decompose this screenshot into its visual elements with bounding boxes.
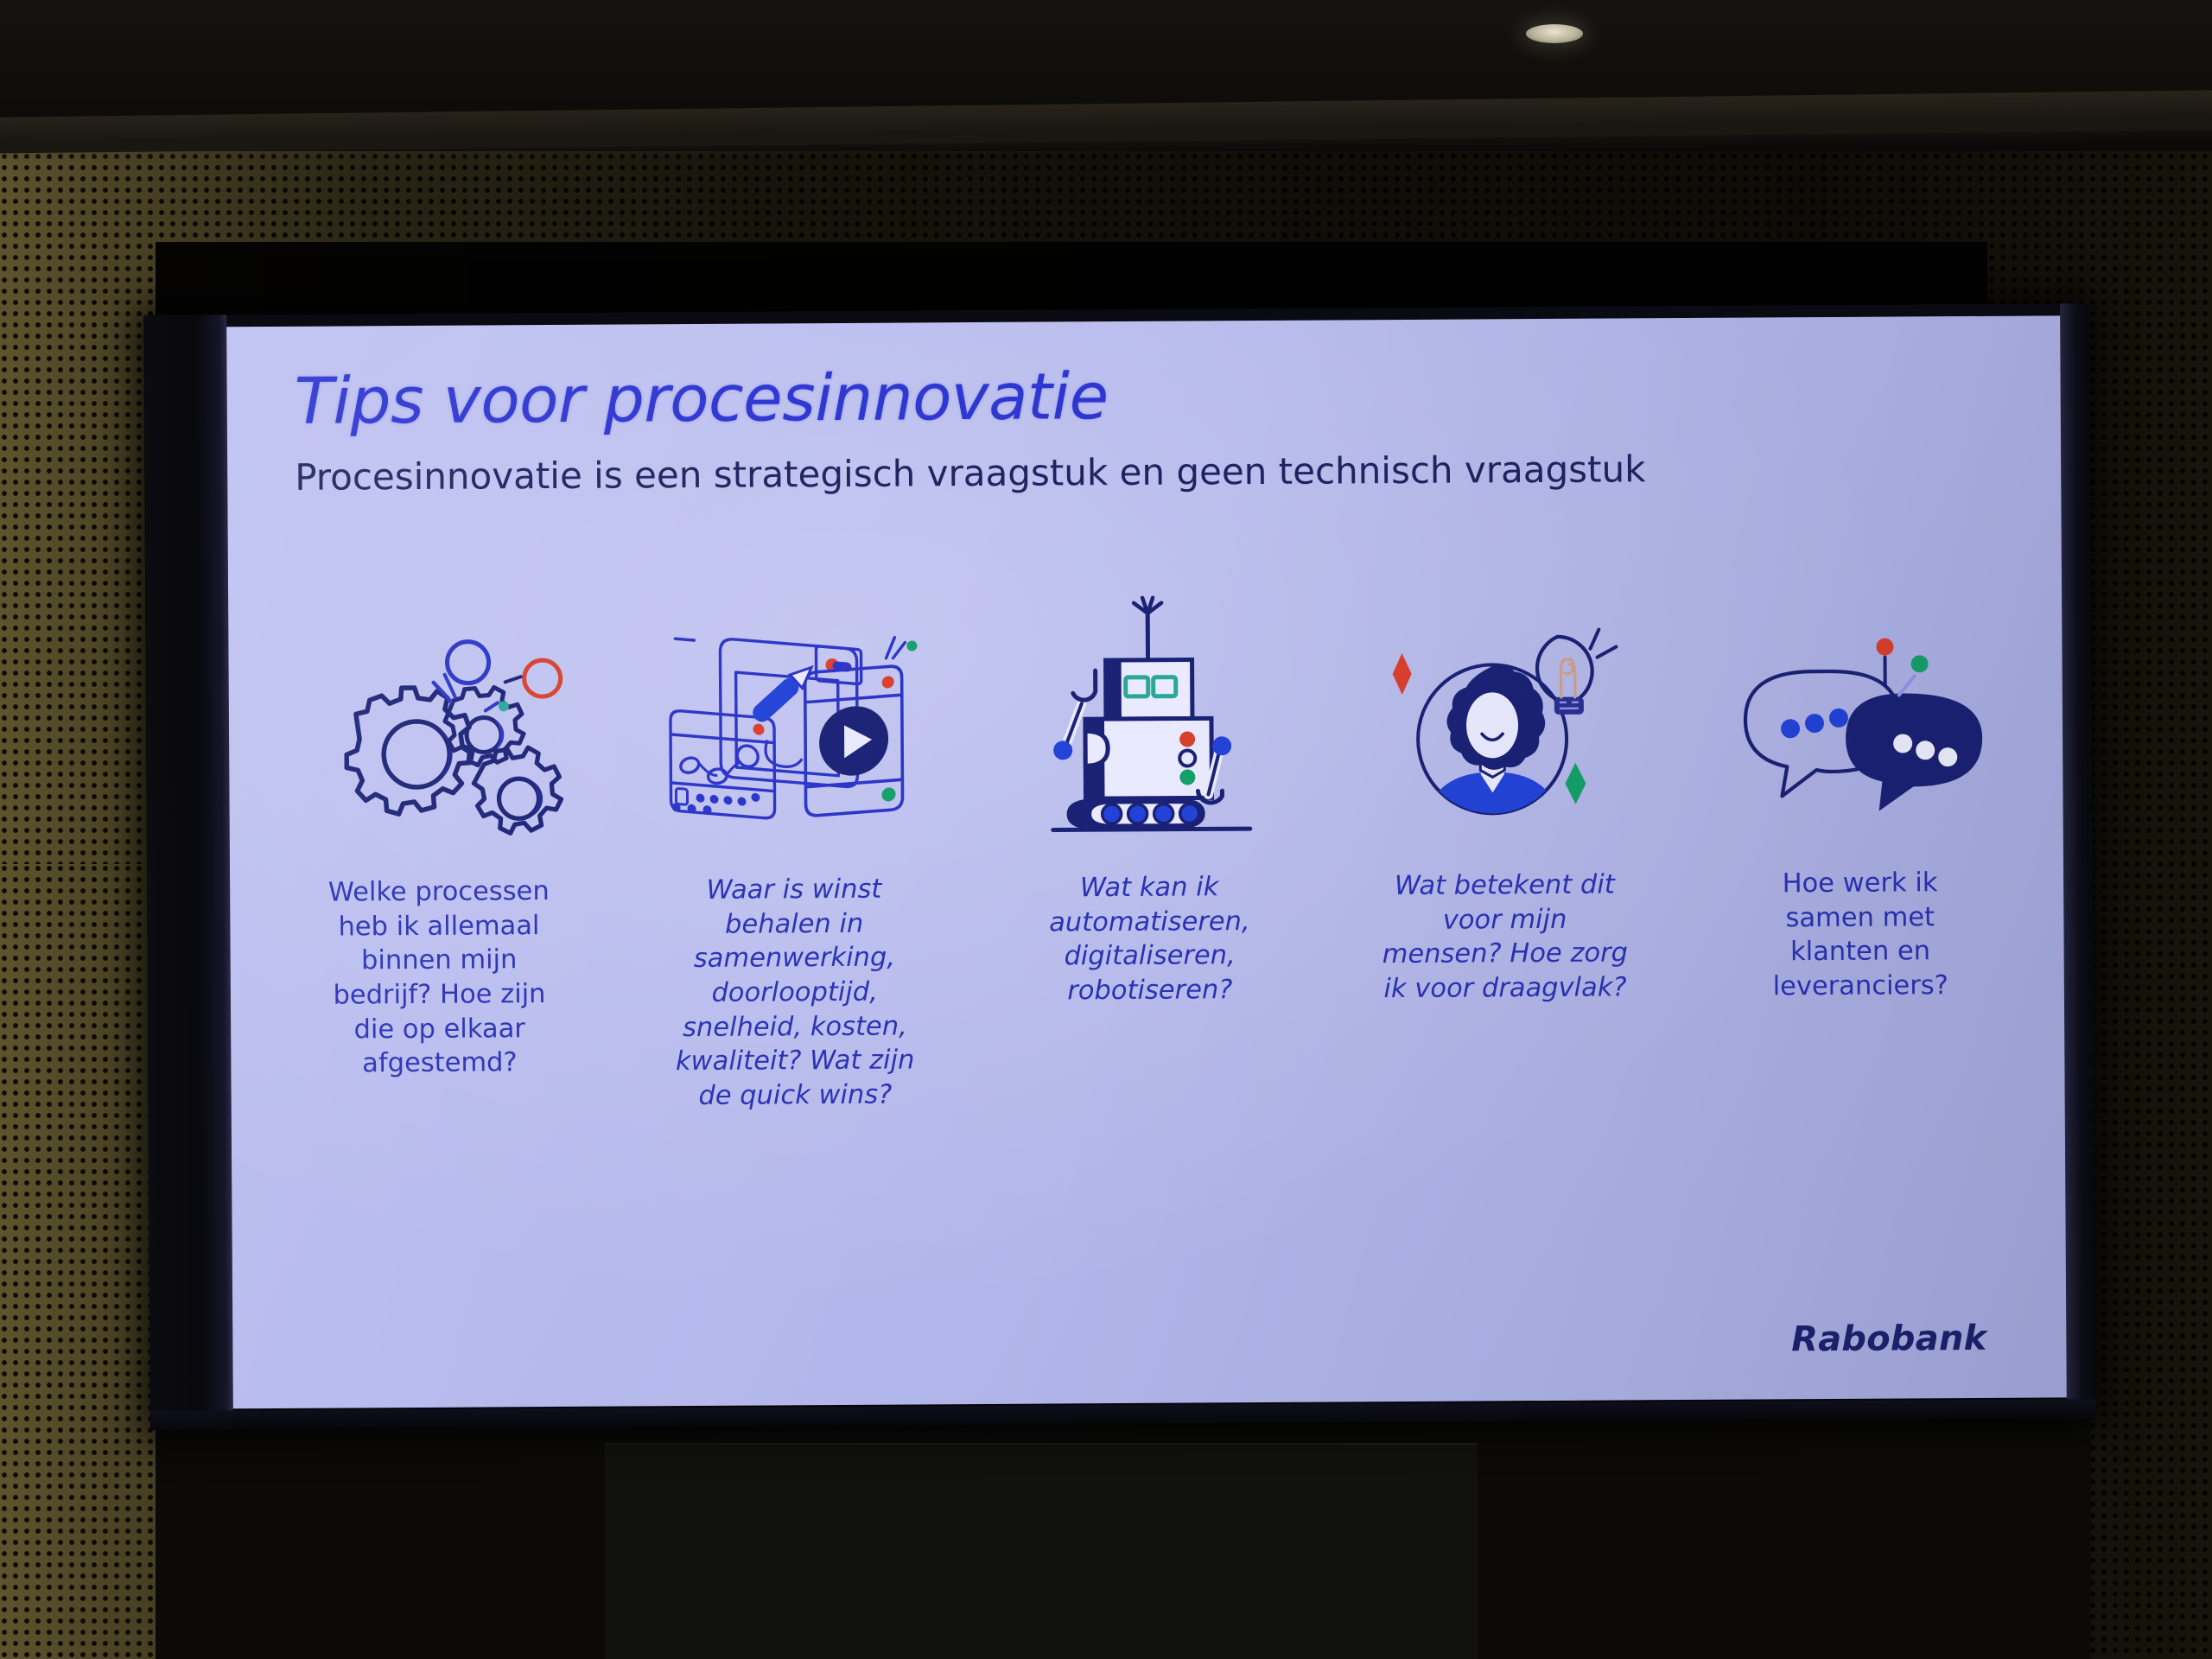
slide: Tips voor procesinnovatie Procesinnovati… [226, 315, 2067, 1408]
tip-column-4: Wat betekent dit voor mijn mensen? Hoe z… [1325, 603, 1683, 1007]
page-title: Tips voor procesinnovatie [294, 359, 1108, 439]
tip-caption-3: Wat kan ik automatiseren, digitaliseren,… [1024, 870, 1275, 1008]
tip-column-2: Waar is winst behalen in samenwerking, d… [614, 607, 973, 1114]
spotlight-icon [1526, 24, 1583, 43]
robot-icon [970, 606, 1327, 833]
display-bezel-left [143, 315, 233, 1430]
tip-column-3: Wat kan ik automatiseren, digitaliseren,… [970, 606, 1328, 1009]
tips-columns: Welke processen heb ik allemaal binnen m… [259, 601, 2040, 1330]
acoustic-wall-panel-bottom [0, 864, 156, 1659]
room-scene: Tips voor procesinnovatie Procesinnovati… [0, 0, 2212, 1659]
presentation-display: Tips voor procesinnovatie Procesinnovati… [143, 303, 2096, 1430]
devices-media-icon [614, 607, 971, 835]
page-subtitle: Procesinnovatie is een strategisch vraag… [295, 448, 1646, 499]
rabobank-logo: Rabobank [1791, 1319, 1986, 1359]
person-lightbulb-icon [1325, 603, 1682, 830]
tip-caption-1: Welke processen heb ik allemaal binnen m… [314, 874, 565, 1082]
tip-caption-5: Hoe werk ik samen met klanten en leveran… [1734, 866, 1986, 1004]
secondary-display [605, 1443, 1478, 1659]
gears-icon [259, 610, 616, 837]
tip-caption-4: Wat betekent dit voor mijn mensen? Hoe z… [1379, 868, 1630, 1006]
tip-column-1: Welke processen heb ik allemaal binnen m… [259, 610, 618, 1082]
tip-column-5: Hoe werk ik samen met klanten en leveran… [1681, 601, 2038, 1005]
tip-caption-2: Waar is winst behalen in samenwerking, d… [669, 872, 921, 1113]
speech-bubbles-icon [1681, 601, 2037, 829]
